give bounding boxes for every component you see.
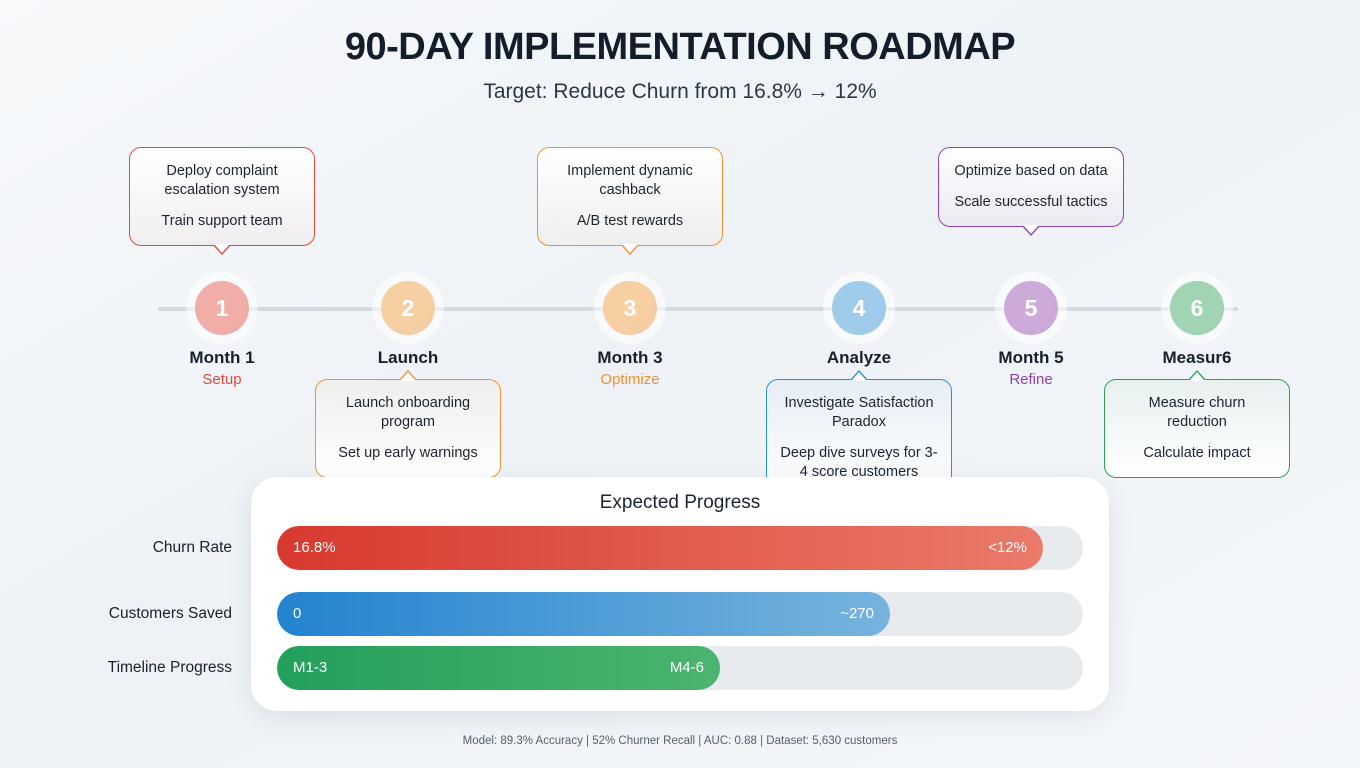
milestone-circle-2[interactable]: 2	[381, 281, 435, 335]
milestone-sublabel-3: Optimize	[560, 371, 700, 388]
milestone-card-line2-3: A/B test rewards	[550, 212, 710, 231]
milestone-card-pointer-inner-1	[214, 244, 230, 253]
milestone-card-5: Optimize based on dataScale successful t…	[938, 147, 1124, 227]
milestone-circle-1[interactable]: 1	[195, 281, 249, 335]
milestone-card-line1-1: Deploy complaint escalation system	[142, 162, 302, 200]
milestone-card-1: Deploy complaint escalation systemTrain …	[129, 147, 315, 246]
milestone-card-pointer-inner-5	[1023, 225, 1039, 234]
expected-progress-panel: Expected Progress	[251, 477, 1109, 711]
milestone-node-6[interactable]: 6Measur6	[1127, 281, 1267, 368]
milestone-node-2[interactable]: 2Launch	[338, 281, 478, 368]
milestone-card-line2-1: Train support team	[142, 212, 302, 231]
milestone-card-pointer-inner-3	[622, 244, 638, 253]
milestone-card-6: Measure churn reductionCalculate impact	[1104, 379, 1290, 478]
milestone-label-3: Month 3	[560, 348, 700, 368]
milestone-label-5: Month 5	[961, 348, 1101, 368]
milestone-card-line1-6: Measure churn reduction	[1117, 394, 1277, 432]
milestone-card-line1-5: Optimize based on data	[951, 162, 1111, 181]
milestone-card-line2-6: Calculate impact	[1117, 444, 1277, 463]
milestone-card-line2-2: Set up early warnings	[328, 444, 488, 463]
milestone-card-line1-4: Investigate Satisfaction Paradox	[779, 394, 939, 432]
milestone-label-2: Launch	[338, 348, 478, 368]
milestone-label-6: Measur6	[1127, 348, 1267, 368]
milestone-card-3: Implement dynamic cashbackA/B test rewar…	[537, 147, 723, 246]
milestone-card-line1-3: Implement dynamic cashback	[550, 162, 710, 200]
model-metrics-footer: Model: 89.3% Accuracy | 52% Churner Reca…	[0, 735, 1360, 747]
milestone-sublabel-1: Setup	[152, 371, 292, 388]
milestone-circle-6[interactable]: 6	[1170, 281, 1224, 335]
milestone-node-1[interactable]: 1Month 1Setup	[152, 281, 292, 388]
milestone-card-line1-2: Launch onboarding program	[328, 394, 488, 432]
milestone-circle-3[interactable]: 3	[603, 281, 657, 335]
milestone-label-1: Month 1	[152, 348, 292, 368]
milestone-node-5[interactable]: 5Month 5Refine	[961, 281, 1101, 388]
milestone-card-2: Launch onboarding programSet up early wa…	[315, 379, 501, 478]
milestone-node-3[interactable]: 3Month 3Optimize	[560, 281, 700, 388]
milestone-circle-4[interactable]: 4	[832, 281, 886, 335]
milestone-card-pointer-inner-4	[851, 372, 867, 381]
expected-progress-title: Expected Progress	[251, 477, 1109, 514]
milestone-card-pointer-inner-2	[400, 372, 416, 381]
milestone-circle-5[interactable]: 5	[1004, 281, 1058, 335]
milestone-label-4: Analyze	[789, 348, 929, 368]
milestone-card-line2-5: Scale successful tactics	[951, 193, 1111, 212]
milestone-sublabel-5: Refine	[961, 371, 1101, 388]
milestone-card-pointer-inner-6	[1189, 372, 1205, 381]
milestone-node-4[interactable]: 4Analyze	[789, 281, 929, 368]
